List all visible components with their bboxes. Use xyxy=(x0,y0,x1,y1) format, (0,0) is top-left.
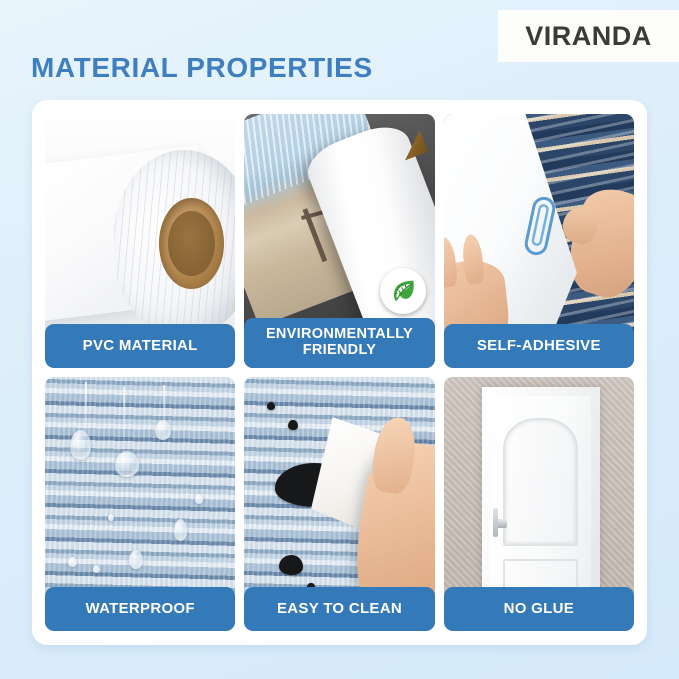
leaf-icon xyxy=(380,268,426,314)
feature-label-easy-to-clean: EASY TO CLEAN xyxy=(277,601,402,617)
feature-card-easy-to-clean[interactable]: EASY TO CLEAN xyxy=(244,377,434,631)
feature-label-self-adhesive: SELF-ADHESIVE xyxy=(477,338,601,354)
feature-grid-panel: PVC MATERIAL xyxy=(32,100,647,645)
feature-card-environmentally-friendly[interactable]: ENVIRONMENTALLY FRIENDLY xyxy=(244,114,434,368)
feature-banner: ENVIRONMENTALLY FRIENDLY xyxy=(244,318,434,368)
feature-row-top: PVC MATERIAL xyxy=(45,114,634,368)
feature-banner: WATERPROOF xyxy=(45,587,235,631)
feature-label-waterproof: WATERPROOF xyxy=(85,601,194,617)
feature-row-bottom: WATERPROOF EASY TO CLEAN xyxy=(45,377,634,631)
feature-card-no-glue[interactable]: NO GLUE xyxy=(444,377,634,631)
feature-card-pvc-material[interactable]: PVC MATERIAL xyxy=(45,114,235,368)
feature-label-no-glue: NO GLUE xyxy=(504,601,574,617)
brand-logo: VIRANDA xyxy=(498,10,679,62)
feature-card-waterproof[interactable]: WATERPROOF xyxy=(45,377,235,631)
feature-card-self-adhesive[interactable]: SELF-ADHESIVE xyxy=(444,114,634,368)
brand-name: VIRANDA xyxy=(525,21,652,52)
feature-banner: NO GLUE xyxy=(444,587,634,631)
feature-banner: EASY TO CLEAN xyxy=(244,587,434,631)
feature-label-pvc-material: PVC MATERIAL xyxy=(83,338,198,354)
page-title: MATERIAL PROPERTIES xyxy=(31,52,373,84)
feature-banner: PVC MATERIAL xyxy=(45,324,235,368)
feature-banner: SELF-ADHESIVE xyxy=(444,324,634,368)
feature-label-environmentally-friendly: ENVIRONMENTALLY FRIENDLY xyxy=(266,327,413,358)
